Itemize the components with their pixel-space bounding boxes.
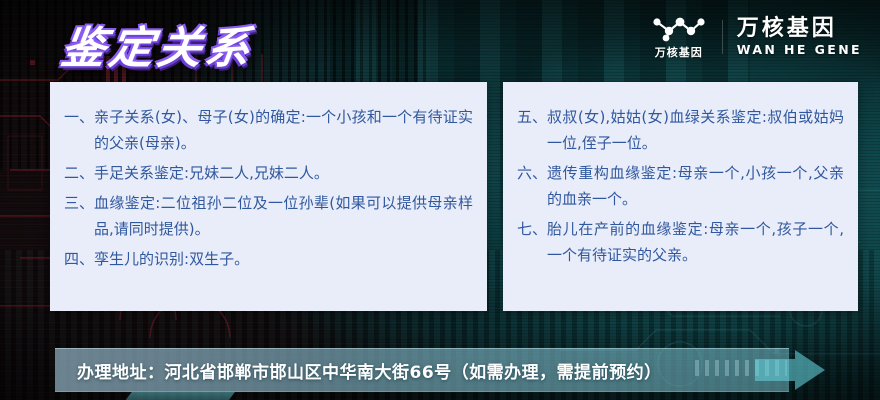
list-item-number: 四、	[64, 246, 94, 272]
list-item-text: 孪生儿的识别:双生子。	[94, 246, 473, 272]
list-item-text: 手足关系鉴定:兄妹二人,兄妹二人。	[94, 160, 473, 186]
brand-divider	[722, 20, 723, 54]
list-item-text: 叔叔(女),姑姑(女)血绿关系鉴定:叔伯或姑妈一位,侄子一位。	[547, 104, 844, 156]
address-bar-band: 办理地址：河北省邯郸市邯山区中华南大街66号（如需办理，需提前预约）	[55, 348, 789, 392]
list-item-number: 六、	[517, 160, 547, 212]
list-item: 一、亲子关系(女)、母子(女)的确定:一个小孩和一个有待证实的父亲(母亲)。	[64, 104, 473, 156]
brand-lockup: 万核基因 万核基因 WAN HE GENE	[650, 14, 862, 60]
list-item-text: 亲子关系(女)、母子(女)的确定:一个小孩和一个有待证实的父亲(母亲)。	[94, 104, 473, 156]
list-item-number: 三、	[64, 190, 94, 242]
brand-name-cn: 万核基因	[737, 17, 837, 40]
brand-text: 万核基因 WAN HE GENE	[737, 17, 862, 56]
list-item: 五、叔叔(女),姑姑(女)血绿关系鉴定:叔伯或姑妈一位,侄子一位。	[517, 104, 844, 156]
list-item: 三、血缘鉴定:二位祖孙二位及一位孙辈(如果可以提供母亲样品,请同时提供)。	[64, 190, 473, 242]
list-item-text: 胎儿在产前的血缘鉴定:母亲一个,孩子一个,一个有待证实的父亲。	[547, 216, 844, 268]
list-item: 七、胎儿在产前的血缘鉴定:母亲一个,孩子一个,一个有待证实的父亲。	[517, 216, 844, 268]
molecule-icon	[650, 14, 708, 42]
relationship-list-panel-right: 五、叔叔(女),姑姑(女)血绿关系鉴定:叔伯或姑妈一位,侄子一位。六、遗传重构血…	[503, 82, 858, 311]
page-title: 鉴定关系	[58, 12, 259, 76]
list-item-text: 血缘鉴定:二位祖孙二位及一位孙辈(如果可以提供母亲样品,请同时提供)。	[94, 190, 473, 242]
list-item-number: 二、	[64, 160, 94, 186]
list-item-number: 一、	[64, 104, 94, 156]
brand-mark-label: 万核基因	[655, 44, 703, 60]
address-bar-tab-decor	[115, 392, 235, 400]
list-item-text: 遗传重构血缘鉴定:母亲一个,小孩一个,父亲的血亲一个。	[547, 160, 844, 212]
list-item-number: 五、	[517, 104, 547, 156]
poster-canvas: 鉴定关系	[0, 0, 880, 400]
address-text: 办理地址：河北省邯郸市邯山区中华南大街66号（如需办理，需提前预约）	[55, 358, 662, 383]
brand-mark: 万核基因	[650, 14, 708, 60]
list-item: 二、手足关系鉴定:兄妹二人,兄妹二人。	[64, 160, 473, 186]
relationship-list-panel-left: 一、亲子关系(女)、母子(女)的确定:一个小孩和一个有待证实的父亲(母亲)。二、…	[50, 82, 487, 311]
list-item: 四、孪生儿的识别:双生子。	[64, 246, 473, 272]
arrow-right-icon	[755, 350, 825, 390]
address-bar: 办理地址：河北省邯郸市邯山区中华南大街66号（如需办理，需提前预约）	[55, 348, 825, 392]
brand-name-en: WAN HE GENE	[737, 42, 862, 57]
list-item: 六、遗传重构血缘鉴定:母亲一个,小孩一个,父亲的血亲一个。	[517, 160, 844, 212]
list-item-number: 七、	[517, 216, 547, 268]
